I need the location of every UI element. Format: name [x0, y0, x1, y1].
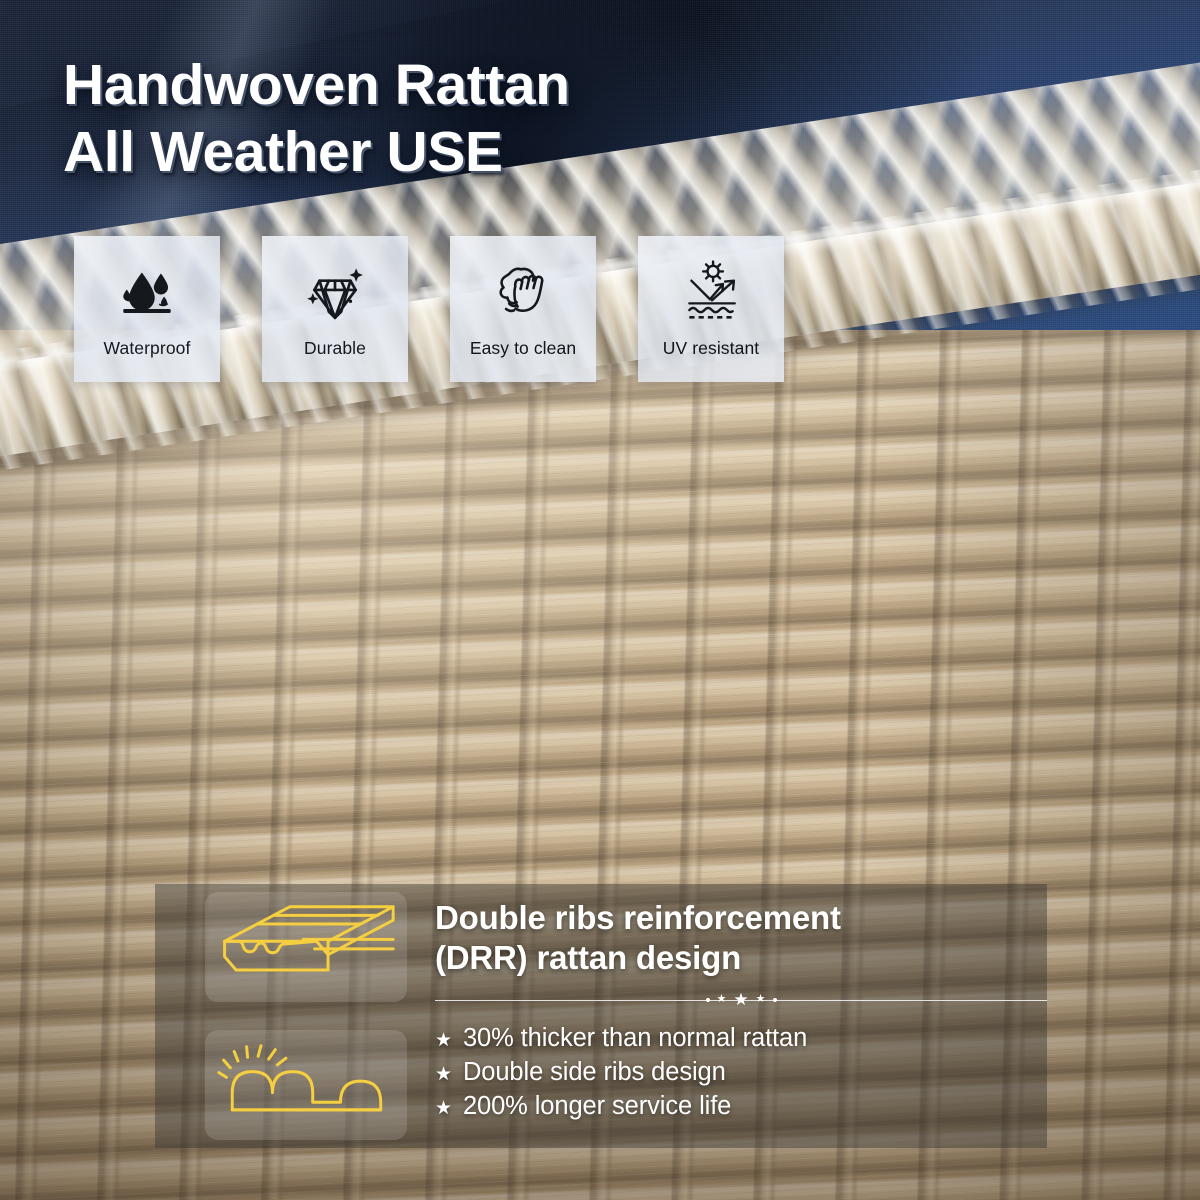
list-item-text: 200% longer service life — [463, 1089, 731, 1123]
hand-wiping-cloth-icon — [490, 258, 556, 324]
badge-label: Waterproof — [104, 338, 191, 359]
bullet-star-icon: ★ — [435, 1031, 452, 1050]
feature-badge-durable[interactable]: Durable — [262, 236, 408, 382]
drr-text-column: Double ribs reinforcement (DRR) rattan d… — [413, 884, 1047, 1148]
sun-uv-reflect-icon — [678, 258, 744, 324]
page-title: Handwoven Rattan All Weather USE — [63, 52, 843, 187]
list-item: ★ 200% longer service life — [435, 1089, 1047, 1123]
ornament-star-small: ★ — [717, 994, 727, 1005]
feature-badge-waterproof[interactable]: Waterproof — [74, 236, 220, 382]
ornament-star-small: ★ — [756, 994, 766, 1005]
list-item-text: 30% thicker than normal rattan — [463, 1021, 807, 1055]
feature-badge-uv-resistant[interactable]: UV resistant — [638, 236, 784, 382]
bullet-star-icon: ★ — [435, 1099, 452, 1118]
product-infographic: Handwoven Rattan All Weather USE — [0, 0, 1200, 1200]
headline-line-1: Handwoven Rattan — [63, 53, 570, 117]
diamond-icon — [302, 258, 368, 324]
water-drop-icon — [114, 258, 180, 324]
headline-line-2: All Weather USE — [63, 119, 843, 186]
drr-title-line-2: (DRR) rattan design — [435, 938, 1047, 978]
drr-title: Double ribs reinforcement (DRR) rattan d… — [435, 898, 1047, 979]
badge-label: Easy to clean — [470, 338, 576, 359]
drr-icon-tile-strand — [205, 892, 407, 1002]
ribbed-rattan-strand-3d-icon — [215, 899, 397, 995]
drr-info-panel: Double ribs reinforcement (DRR) rattan d… — [155, 884, 1047, 1148]
drr-icon-column — [155, 884, 413, 1148]
separator-ornament: ★ ★ ★ — [692, 992, 791, 1008]
ornament-star-large: ★ — [733, 991, 748, 1008]
badge-label: UV resistant — [663, 338, 760, 359]
ornament-dot — [773, 998, 777, 1002]
list-item: ★ 30% thicker than normal rattan — [435, 1021, 1047, 1055]
list-item-text: Double side ribs design — [463, 1055, 726, 1089]
feature-badge-row: Waterproof — [74, 236, 784, 382]
list-item: ★ Double side ribs design — [435, 1055, 1047, 1089]
drr-icon-tile-profile — [205, 1030, 407, 1140]
feature-badge-easy-to-clean[interactable]: Easy to clean — [450, 236, 596, 382]
ornament-dot — [706, 998, 710, 1002]
rattan-cross-section-profile-icon — [215, 1037, 397, 1133]
drr-bullet-list: ★ 30% thicker than normal rattan ★ Doubl… — [435, 1021, 1047, 1123]
bullet-star-icon: ★ — [435, 1065, 452, 1084]
decorative-separator: ★ ★ ★ — [435, 989, 1047, 1011]
badge-label: Durable — [304, 338, 366, 359]
drr-title-line-1: Double ribs reinforcement — [435, 899, 841, 936]
